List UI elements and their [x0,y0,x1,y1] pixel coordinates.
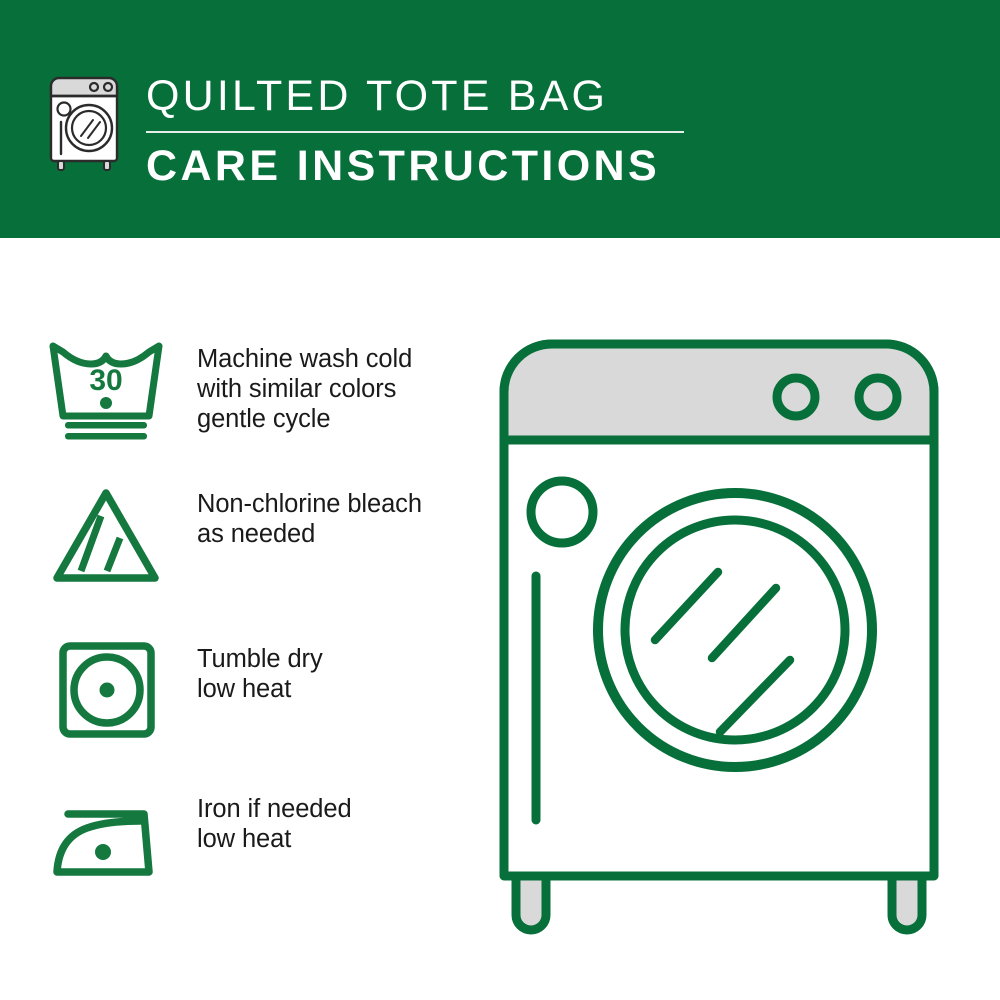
care-text-line: low heat [197,674,323,704]
care-text-line: Machine wash cold [197,344,412,374]
care-item-iron: Iron if needed low heat [45,788,485,893]
care-item-iron-text: Iron if needed low heat [197,788,352,854]
page-title: QUILTED TOTE BAG [146,70,746,122]
page-subtitle: CARE INSTRUCTIONS [146,140,746,192]
care-item-bleach-text: Non-chlorine bleach as needed [197,483,422,549]
care-text-line: Iron if needed [197,794,352,824]
wash-tub-30-gentle-icon: 30 [45,338,167,443]
iron-low-heat-icon [45,788,167,893]
leg-left [516,872,546,930]
control-panel [504,344,934,440]
care-text-line: as needed [197,519,422,549]
care-text-line: gentle cycle [197,404,412,434]
care-item-wash: 30 Machine wash cold with similar colors… [45,338,485,443]
wash-temperature-label: 30 [89,364,122,397]
care-item-tumble-dry-text: Tumble dry low heat [197,638,323,704]
washing-machine-icon [45,66,133,176]
care-text-line: Non-chlorine bleach [197,489,422,519]
care-text-line: low heat [197,824,352,854]
header-banner: QUILTED TOTE BAG CARE INSTRUCTIONS [0,0,1000,238]
triangle-non-chlorine-bleach-icon [45,483,167,588]
care-text-line: Tumble dry [197,644,323,674]
care-instructions-page: QUILTED TOTE BAG CARE INSTRUCTIONS 30 Ma… [0,0,1000,1000]
care-item-tumble-dry: Tumble dry low heat [45,638,485,743]
care-item-bleach: Non-chlorine bleach as needed [45,483,485,588]
care-instruction-list: 30 Machine wash cold with similar colors… [0,238,500,1000]
title-divider [146,131,684,133]
care-text-line: with similar colors [197,374,412,404]
front-load-washing-machine-illustration [480,320,980,950]
tumble-dry-low-heat-icon [45,638,167,743]
header-title-block: QUILTED TOTE BAG CARE INSTRUCTIONS [146,70,746,192]
leg-right [892,872,922,930]
care-item-wash-text: Machine wash cold with similar colors ge… [197,338,412,434]
